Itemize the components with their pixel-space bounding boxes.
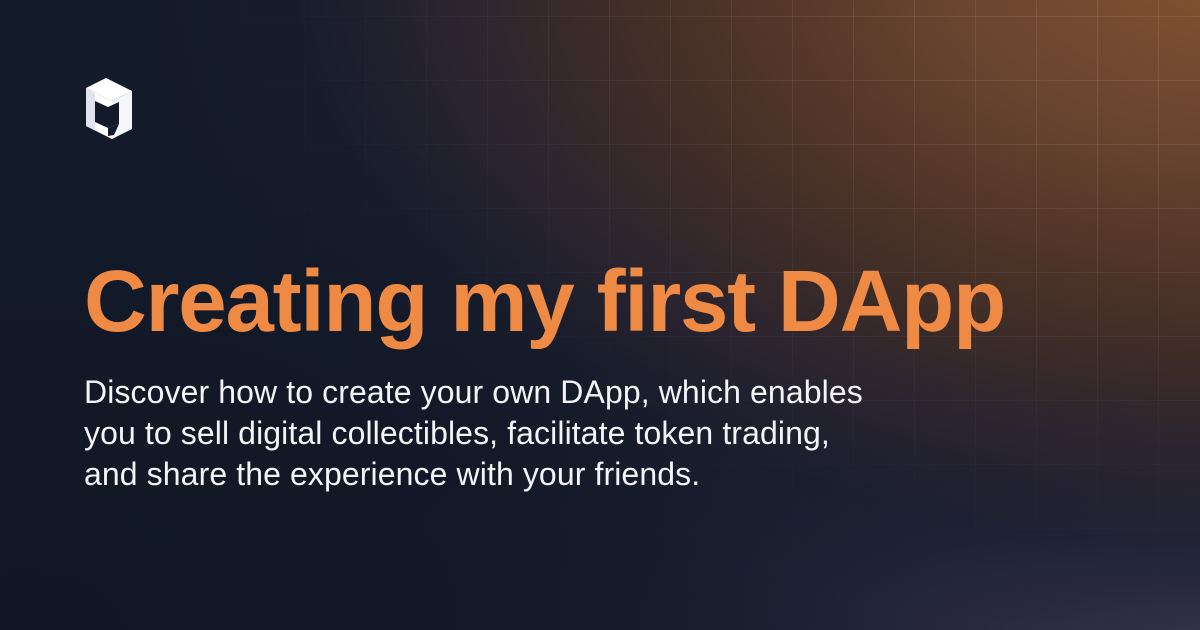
page-title: Creating my first DApp [84,258,1144,345]
brand-logo [78,78,132,142]
dapp-cube-logo-icon [78,78,132,142]
card-text-content: Creating my first DApp Discover how to c… [84,258,1144,495]
page-subtitle: Discover how to create your own DApp, wh… [84,372,874,495]
social-card-banner: Creating my first DApp Discover how to c… [0,0,1200,630]
